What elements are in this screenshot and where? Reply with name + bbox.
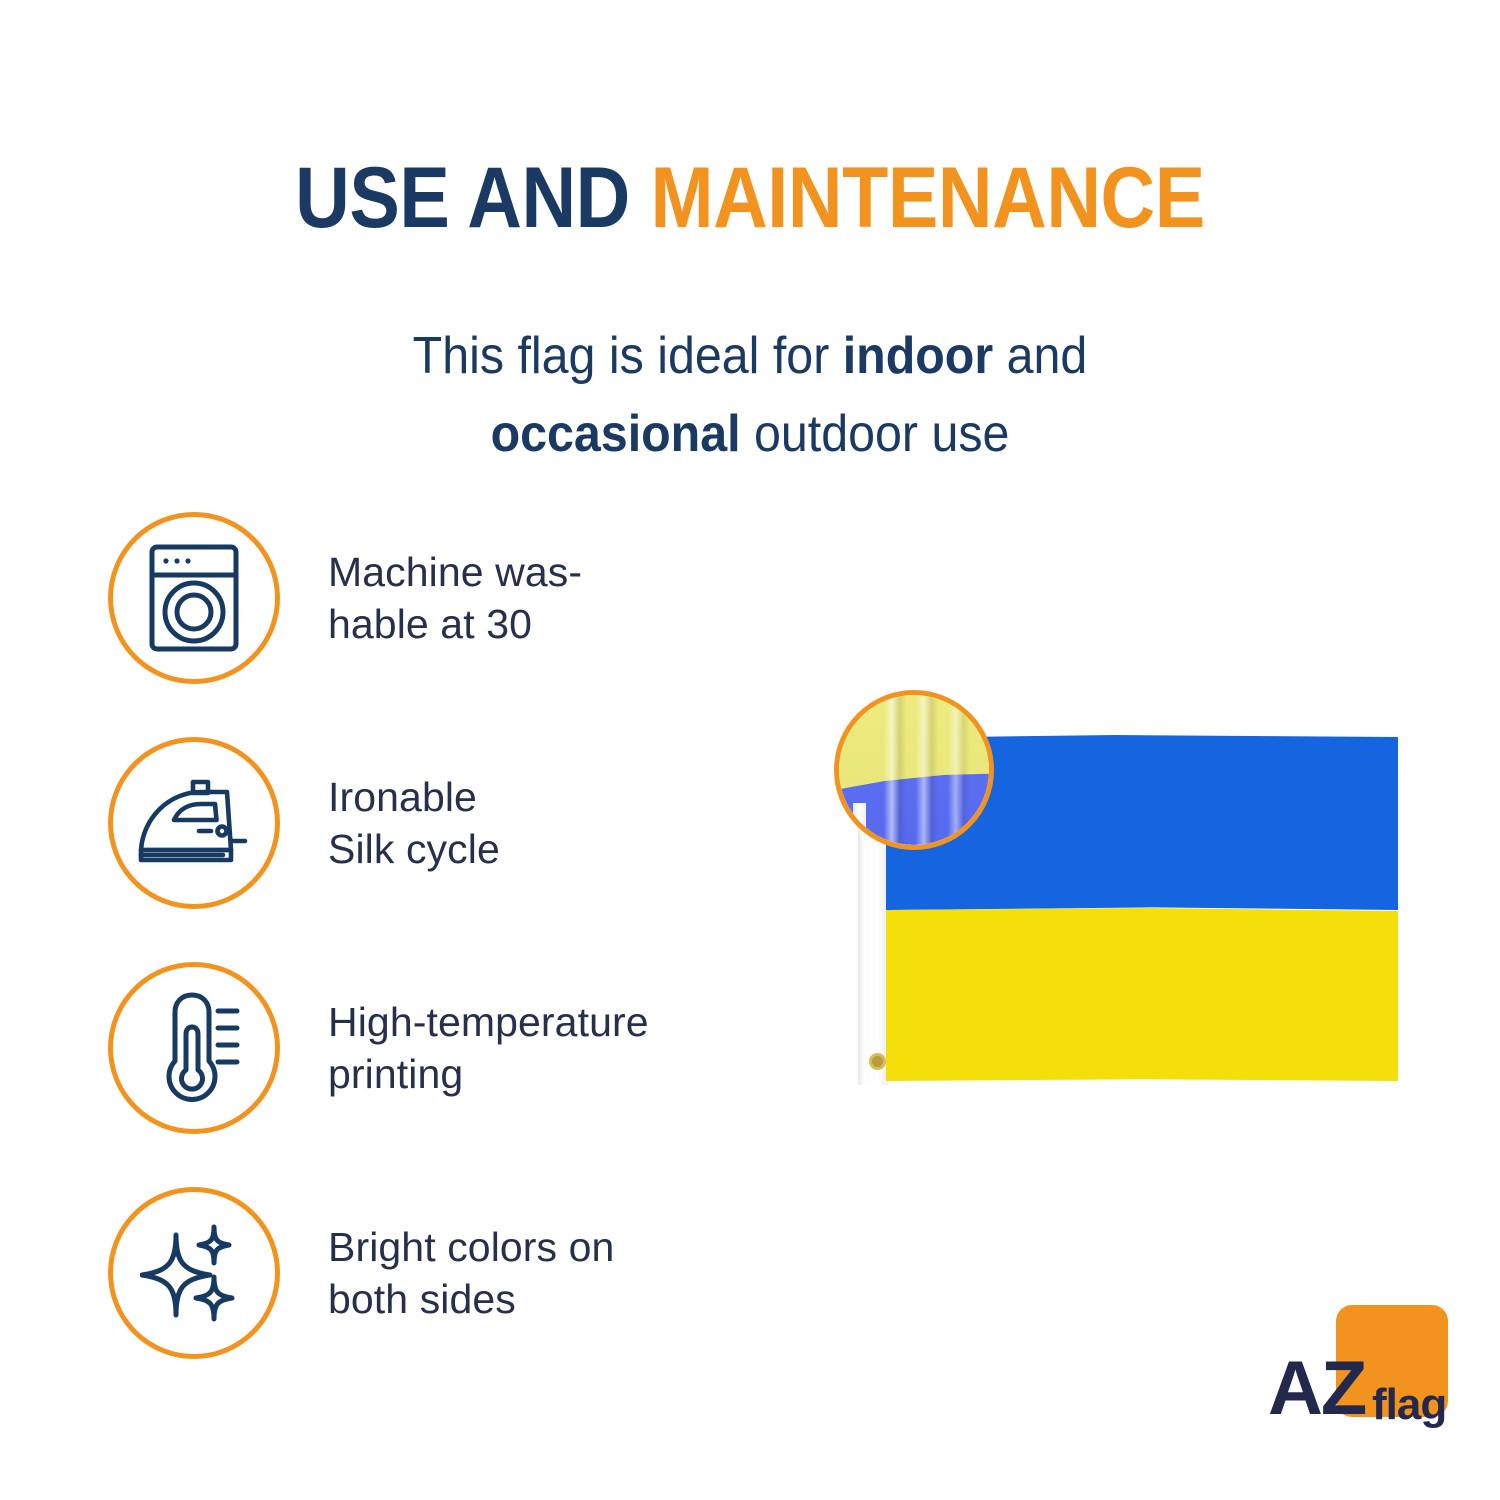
thermometer-icon xyxy=(146,989,242,1107)
icon-badge-ironable xyxy=(108,737,280,909)
subtitle-text-2: and xyxy=(993,327,1087,385)
subtitle-emphasis-indoor: indoor xyxy=(843,327,993,385)
iron-icon xyxy=(135,778,253,868)
page-title-primary: USE AND xyxy=(295,150,650,246)
fabric-closeup-magnifier xyxy=(834,690,994,850)
magnifier-pole-segment xyxy=(853,803,866,845)
magnifier-content xyxy=(839,695,989,845)
feature-item-machine-washable: Machine was- hable at 30 xyxy=(108,505,748,690)
logo-flag-text: flag xyxy=(1372,1383,1446,1427)
logo-az-text: AZ xyxy=(1268,1351,1365,1427)
icon-badge-machine-washable xyxy=(108,512,280,684)
feature-item-bright-colors: Bright colors on both sides xyxy=(108,1180,748,1365)
subtitle-emphasis-occasional: occasional xyxy=(491,405,741,463)
poster-root: USE AND MAINTENANCE This flag is ideal f… xyxy=(0,0,1500,1500)
icon-badge-bright-colors xyxy=(108,1187,280,1359)
page-title-accent: MAINTENANCE xyxy=(650,150,1204,246)
subtitle-text-3: outdoor use xyxy=(741,405,1010,463)
feature-label-machine-washable: Machine was- hable at 30 xyxy=(328,546,582,650)
flag-stripe-yellow xyxy=(886,908,1398,1081)
feature-label-high-temperature: High-temperature printing xyxy=(328,996,649,1100)
brand-logo: AZ flag xyxy=(1268,1305,1458,1455)
feature-label-ironable: Ironable Silk cycle xyxy=(328,771,500,875)
feature-label-bright-colors: Bright colors on both sides xyxy=(328,1221,614,1325)
feature-item-high-temperature: High-temperature printing xyxy=(108,955,748,1140)
washing-machine-icon xyxy=(146,542,242,654)
icon-badge-high-temperature xyxy=(108,962,280,1134)
sparkles-icon xyxy=(140,1219,248,1327)
flag-grommet xyxy=(869,1053,886,1070)
page-subtitle: This flag is ideal for indoor and occasi… xyxy=(285,317,1215,473)
feature-item-ironable: Ironable Silk cycle xyxy=(108,730,748,915)
page-title: USE AND MAINTENANCE xyxy=(90,150,1410,246)
subtitle-text-1: This flag is ideal for xyxy=(413,327,843,385)
feature-list: Machine was- hable at 30 xyxy=(108,505,748,1405)
